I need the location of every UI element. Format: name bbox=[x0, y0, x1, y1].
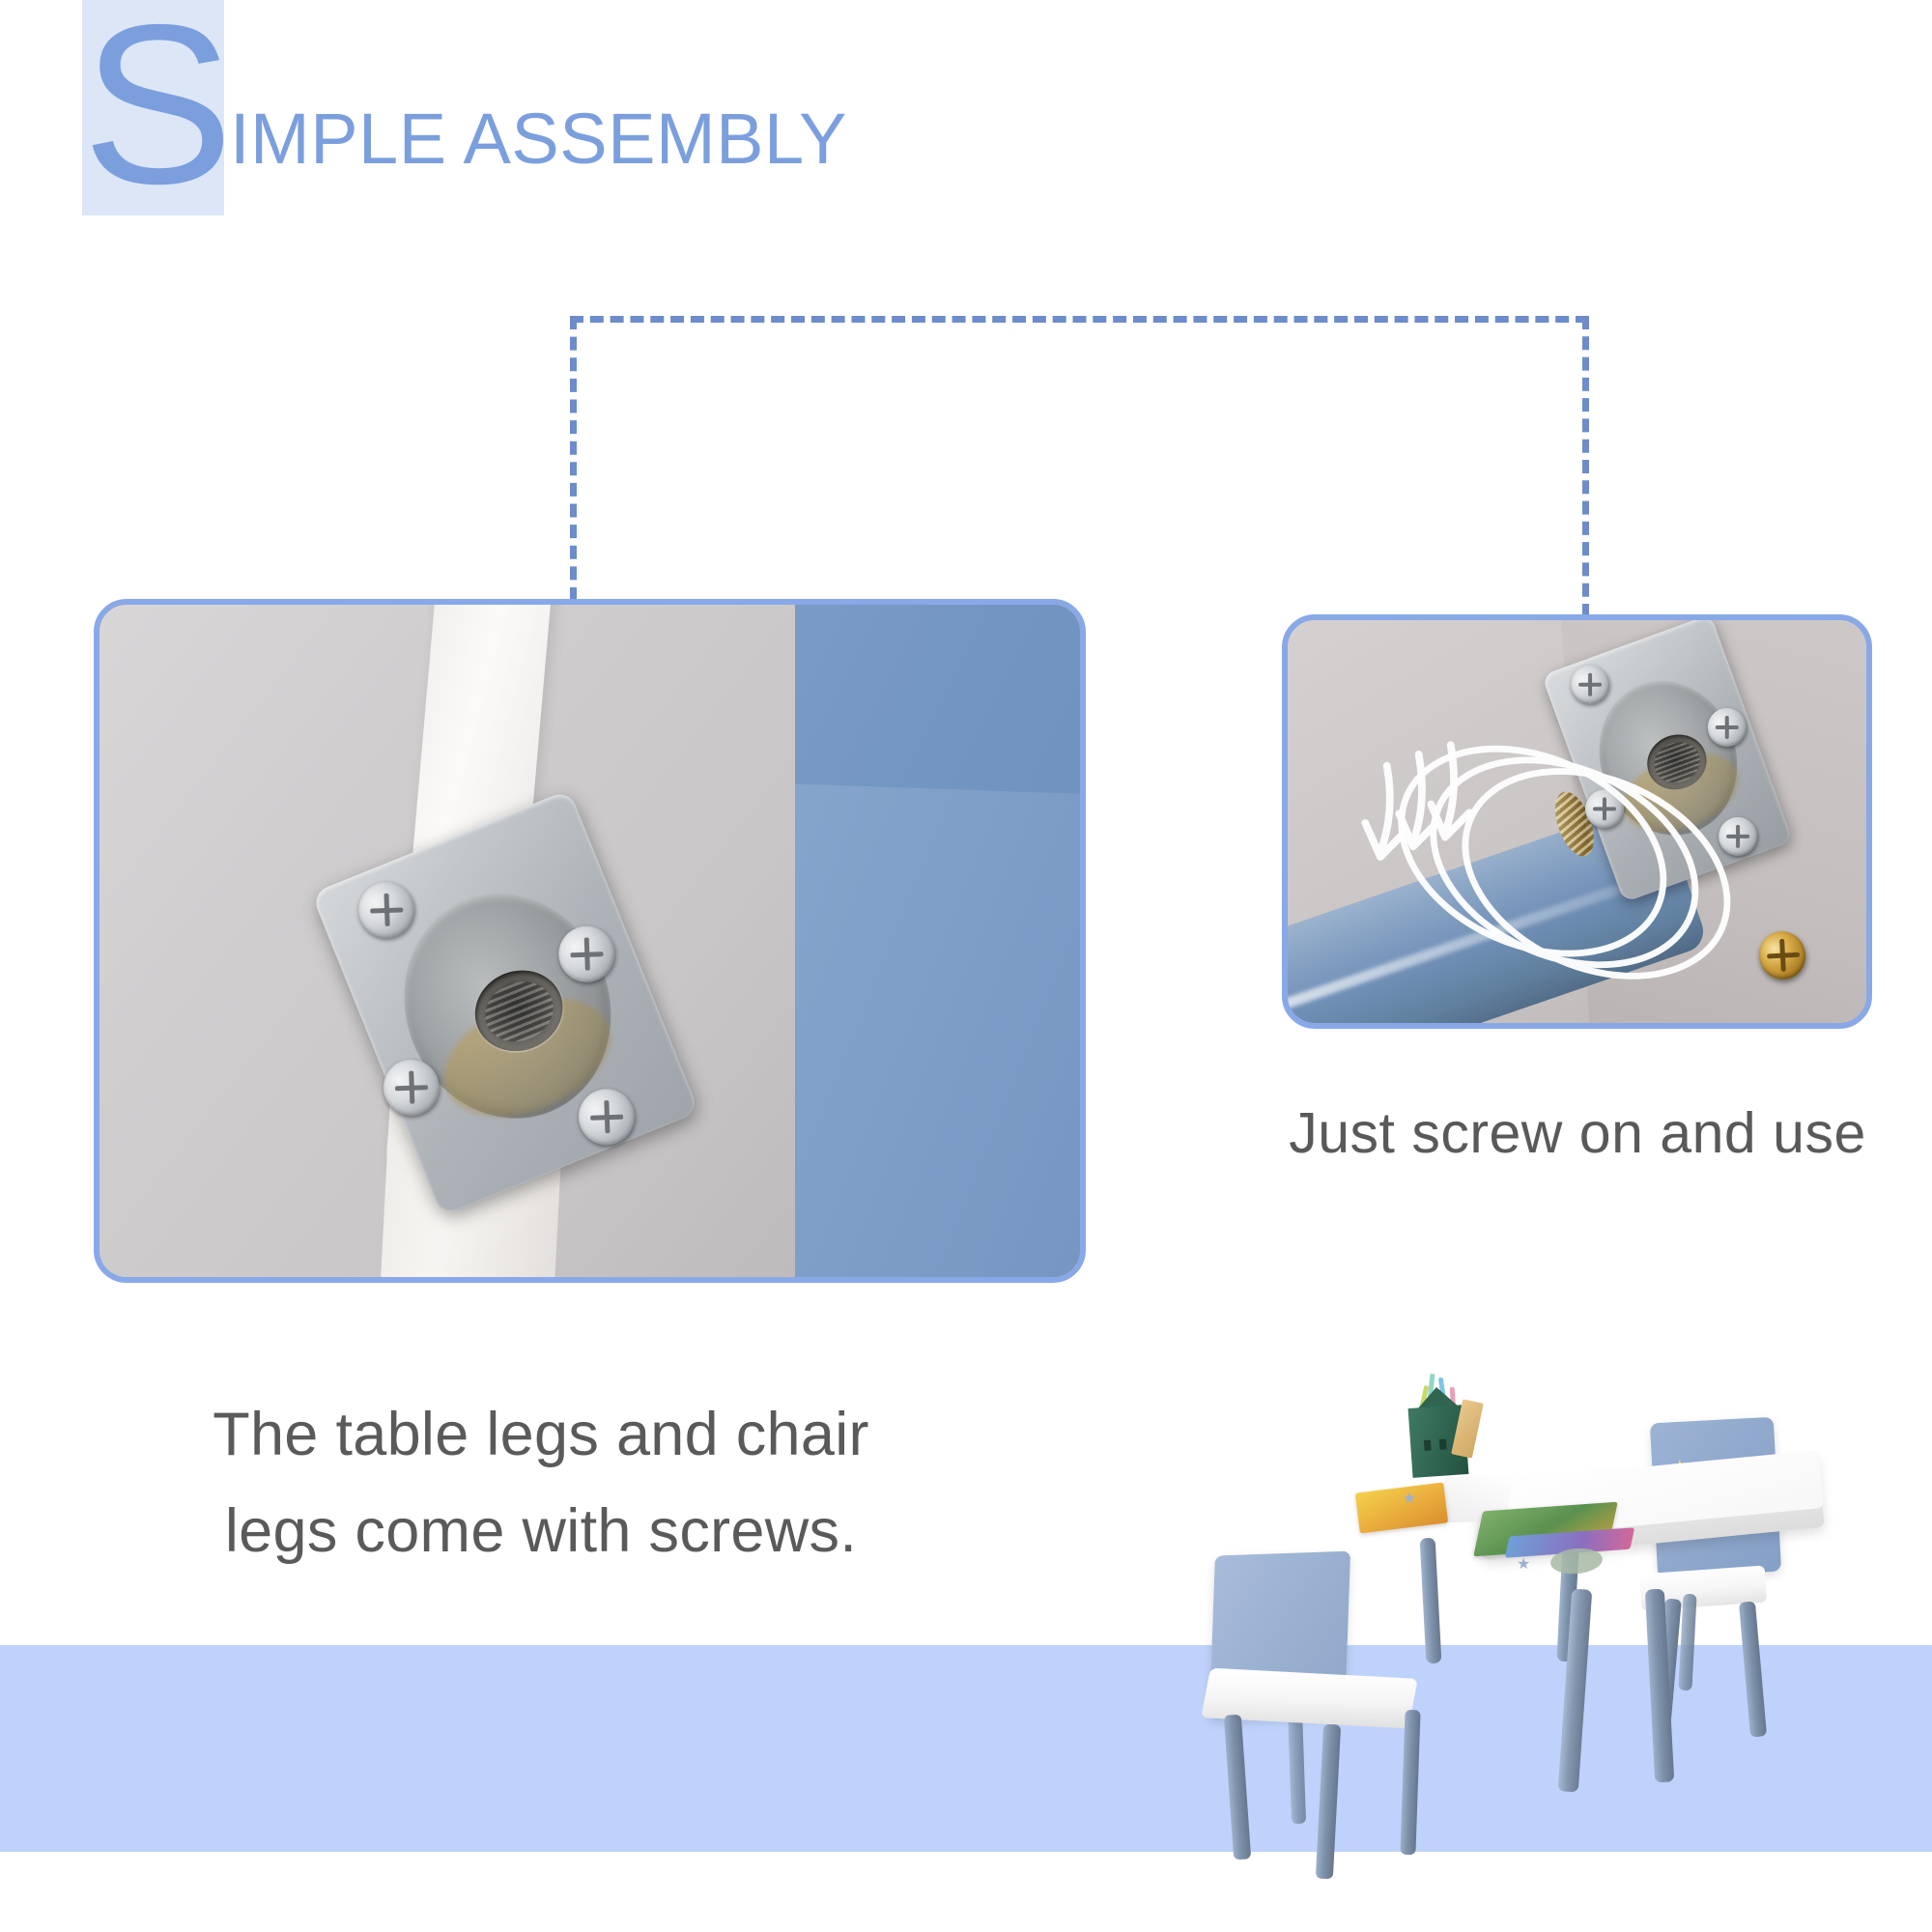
main-caption-line-1: The table legs and chair bbox=[97, 1386, 985, 1483]
left-chair-leg bbox=[1224, 1715, 1251, 1861]
open-book-left-page bbox=[1355, 1483, 1448, 1534]
page-title: IMPLE ASSEMBLY bbox=[230, 99, 847, 180]
connector-line-horizontal bbox=[570, 316, 1589, 323]
main-caption-line-2: legs come with screws. bbox=[97, 1483, 985, 1579]
plate-screw bbox=[350, 873, 423, 947]
right-chair-leg bbox=[1739, 1602, 1767, 1738]
right-chair-leg bbox=[1678, 1594, 1696, 1691]
main-caption: The table legs and chair legs come with … bbox=[97, 1386, 985, 1579]
rotation-arrow-icon bbox=[1288, 620, 1866, 1023]
main-photo-scene bbox=[99, 605, 1080, 1277]
main-photo-panel bbox=[94, 599, 1086, 1283]
inset-photo-scene bbox=[1288, 620, 1866, 1023]
table-leg-rear bbox=[1420, 1538, 1442, 1664]
drop-cap-letter: S bbox=[82, 0, 224, 214]
star-icon: ★ bbox=[1517, 1557, 1530, 1573]
inset-photo-panel bbox=[1282, 614, 1872, 1029]
house-window bbox=[1424, 1440, 1432, 1451]
left-chair-leg bbox=[1288, 1708, 1306, 1824]
inset-caption: Just screw on and use bbox=[1282, 1101, 1873, 1165]
connector-line-left-drop bbox=[570, 316, 577, 601]
star-icon: ★ bbox=[1403, 1492, 1416, 1507]
connector-line-right-drop bbox=[1582, 316, 1589, 617]
left-chair-leg bbox=[1316, 1724, 1341, 1880]
product-photo: ★ ★ ★ ★ ★ ★ ★ ★ ★ bbox=[1188, 1352, 1816, 1913]
house-window bbox=[1439, 1438, 1447, 1449]
left-chair-leg bbox=[1400, 1710, 1420, 1855]
